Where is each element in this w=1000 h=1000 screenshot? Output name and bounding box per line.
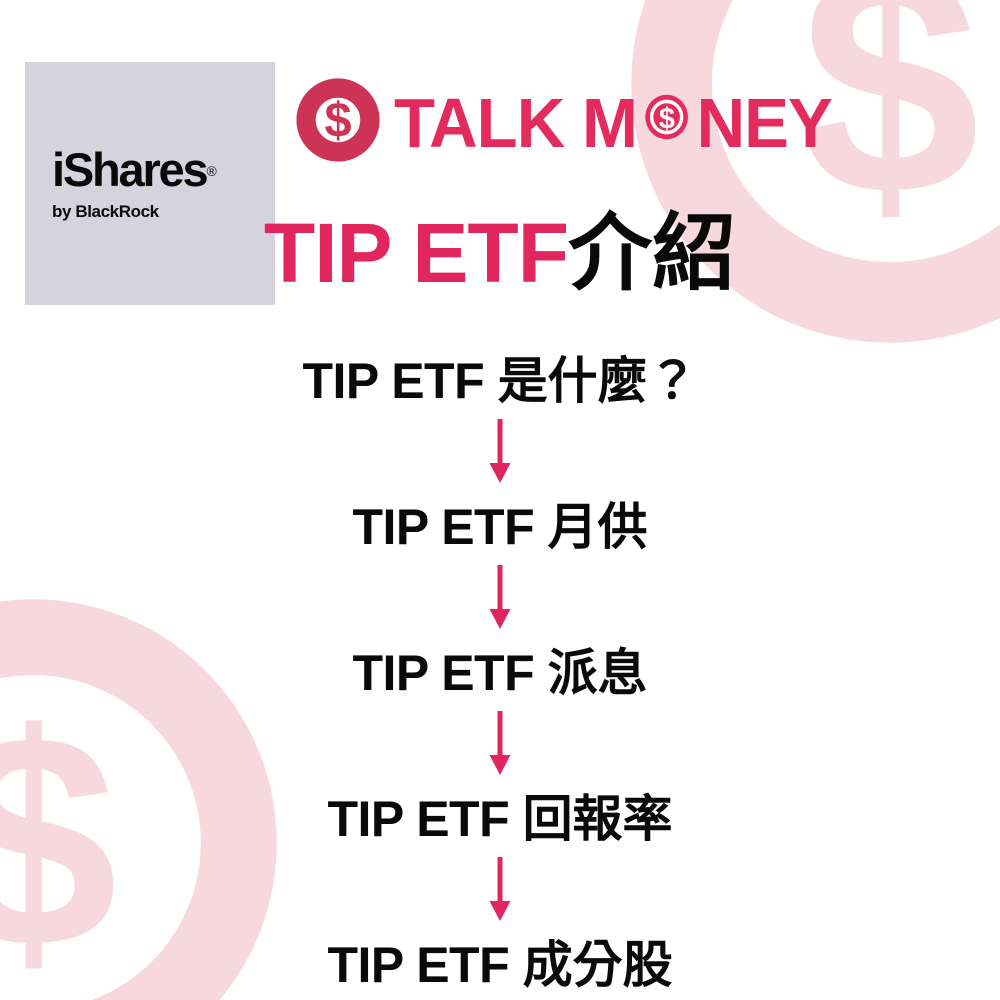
flow-step-english: TIP ETF <box>327 791 509 847</box>
svg-text:$: $ <box>659 102 675 136</box>
flow-step-what-is: TIP ETF 是什麼？ <box>302 352 697 410</box>
flow-step-english: TIP ETF <box>302 353 484 409</box>
ishares-wordmark-text: iShares <box>52 143 206 196</box>
infographic-canvas: $ $ iShares® by BlackRock $ TALK M$NEY T… <box>0 0 1000 1000</box>
flow-step-chinese: 月供 <box>548 498 648 556</box>
dollar-coin-o-icon: $ <box>638 87 696 158</box>
down-arrow-icon <box>487 857 513 928</box>
dollar-coin-icon: $ <box>296 78 380 167</box>
talk-money-brand: $ TALK M$NEY <box>296 78 850 167</box>
flow-step-return-rate: TIP ETF 回報率 <box>327 790 672 848</box>
flow-step-chinese: 成分股 <box>523 936 673 994</box>
talk-money-text-after: NEY <box>697 88 832 158</box>
flow-step-chinese: 派息 <box>548 644 648 702</box>
down-arrow-icon <box>487 565 513 636</box>
ishares-wordmark: iShares® <box>52 146 275 193</box>
topic-flowchart: TIP ETF 是什麼？ TIP ETF 月供 TIP ETF 派息 TIP E… <box>0 352 1000 994</box>
flow-step-english: TIP ETF <box>352 499 534 555</box>
flow-step-chinese: 是什麼？ <box>498 352 698 410</box>
talk-money-text-before: TALK M <box>394 88 637 158</box>
down-arrow-icon <box>487 711 513 782</box>
page-title-chinese: 介紹 <box>568 204 736 302</box>
svg-text:$: $ <box>324 94 351 148</box>
page-title: TIP ETF介紹 <box>0 206 1000 300</box>
flow-step-english: TIP ETF <box>327 937 509 993</box>
flow-step-monthly-contribution: TIP ETF 月供 <box>352 498 647 556</box>
flow-step-dividend: TIP ETF 派息 <box>352 644 647 702</box>
page-title-english: TIP ETF <box>264 206 568 300</box>
down-arrow-icon <box>487 419 513 490</box>
registered-trademark-icon: ® <box>206 163 216 179</box>
flow-step-holdings: TIP ETF 成分股 <box>327 936 672 994</box>
talk-money-wordmark: TALK M$NEY <box>394 87 832 158</box>
flow-step-chinese: 回報率 <box>523 790 673 848</box>
flow-step-english: TIP ETF <box>352 645 534 701</box>
